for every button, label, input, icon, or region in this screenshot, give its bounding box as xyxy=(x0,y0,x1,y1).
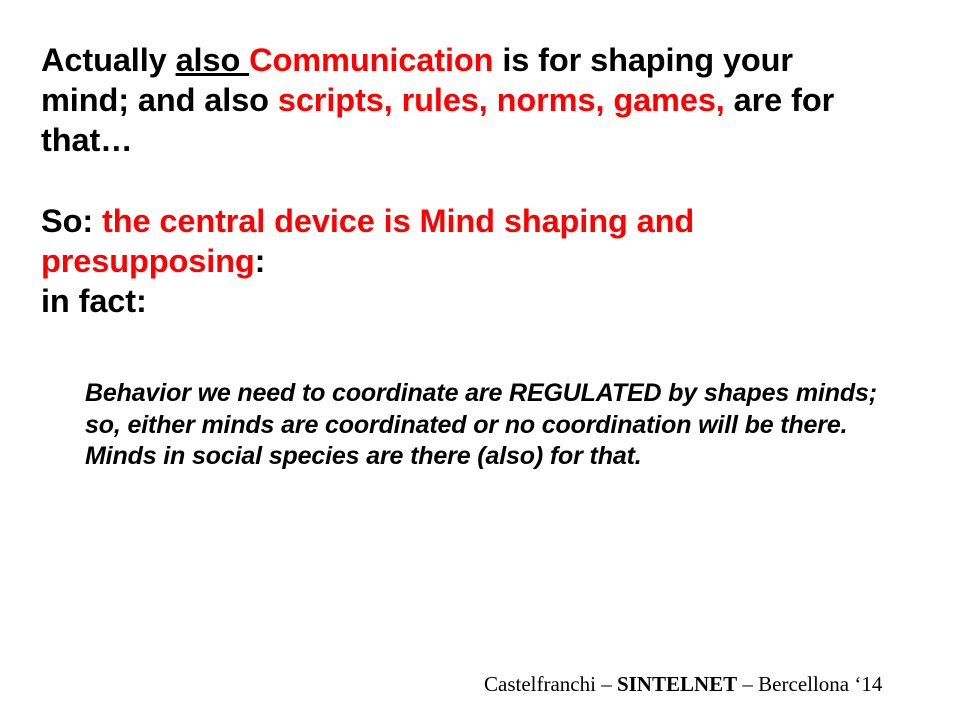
p1-segment-scripts-rules-norms-games-red: scripts, rules, norms, games, xyxy=(278,82,725,118)
paragraph-communication: Actually also Communication is for shapi… xyxy=(41,40,841,160)
paragraph-central-device: So: the central device is Mind shaping a… xyxy=(41,201,831,281)
footer-segment-location-year: – Bercellona ‘14 xyxy=(737,672,882,696)
p2-segment-central-device-red: the central device is Mind shaping and p… xyxy=(41,203,694,279)
p1-segment-also-underlined: also xyxy=(176,42,250,78)
p2-segment-colon: : xyxy=(255,243,266,279)
slide-body-text: Actually also Communication is for shapi… xyxy=(41,40,921,321)
p3-segment-in-fact: in fact: xyxy=(41,283,147,319)
slide-canvas: Actually also Communication is for shapi… xyxy=(0,0,960,720)
p2-segment-so: So: xyxy=(41,203,102,239)
p1-segment-communication-red: Communication xyxy=(249,42,493,78)
slide-footer: Castelfranchi – SINTELNET – Bercellona ‘… xyxy=(484,671,882,697)
paragraph-in-fact: in fact: xyxy=(41,281,921,321)
p1-segment-1: Actually xyxy=(41,42,176,78)
footer-segment-sintelnet: SINTELNET xyxy=(617,672,737,696)
paragraph-behavior-note: Behavior we need to coordinate are REGUL… xyxy=(85,378,910,473)
footer-segment-author: Castelfranchi – xyxy=(484,672,617,696)
